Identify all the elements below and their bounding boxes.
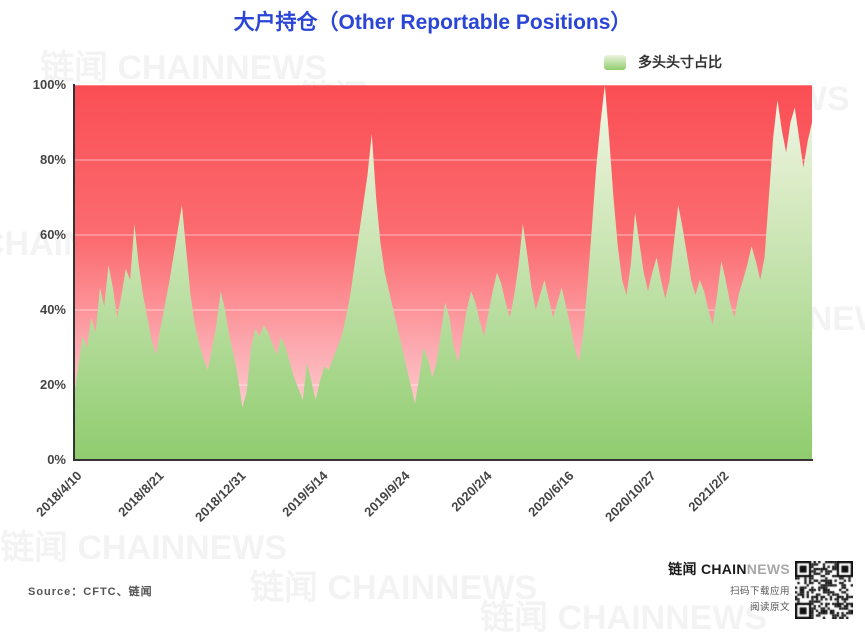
x-axis-labels: 2018/4/102018/8/212018/12/312019/5/14201… (0, 0, 865, 624)
brand-name-news: NEWS (747, 561, 790, 577)
brand-name-cn: 链闻 (668, 561, 697, 577)
brand-subtitle-download: 扫码下载应用 (645, 583, 790, 597)
brand-name-chain: CHAIN (701, 561, 747, 577)
chart-legend: 多头头寸占比 (604, 52, 722, 72)
x-axis-tick-label: 2021/2/2 (686, 468, 732, 514)
area-chart: 0%20%40%60%80%100% 2018/4/102018/8/21201… (0, 0, 865, 624)
x-axis-tick-label: 2018/4/10 (33, 468, 85, 520)
x-axis-tick-label: 2020/6/16 (525, 468, 577, 520)
x-axis-tick-label: 2018/8/21 (115, 468, 167, 520)
legend-swatch-long-ratio (604, 55, 626, 70)
qr-code-icon[interactable] (795, 561, 853, 619)
brand-subtitle-read: 阅读原文 (645, 599, 790, 613)
brand-logo: 链闻 CHAINNEWS 扫码下载应用 阅读原文 (645, 559, 790, 613)
x-axis-tick-label: 2020/2/4 (448, 468, 494, 514)
x-axis-tick-label: 2020/10/27 (602, 468, 659, 525)
source-note: Source：CFTC、链闻 (28, 583, 153, 599)
legend-label-long-ratio: 多头头寸占比 (638, 52, 722, 72)
x-axis-tick-label: 2019/5/14 (279, 468, 331, 520)
page-title: 大户持仓（Other Reportable Positions） (0, 6, 865, 36)
x-axis-tick-label: 2018/12/31 (192, 468, 249, 525)
x-axis-tick-label: 2019/9/24 (361, 468, 413, 520)
